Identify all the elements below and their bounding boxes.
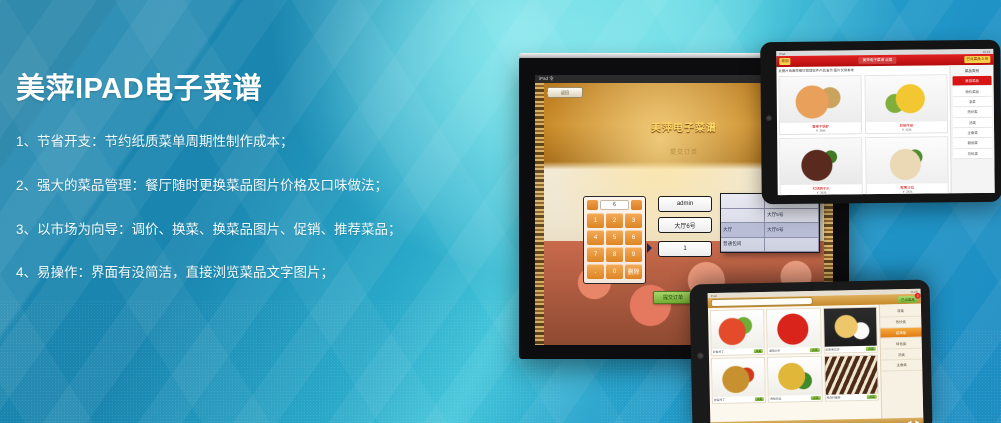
keypad-top-row: 6 (587, 200, 642, 210)
keypad-key[interactable]: 6 (625, 230, 642, 245)
dish-price: ￥ 42元 (866, 127, 947, 133)
dish-image (824, 308, 877, 347)
table-cell-seat[interactable]: 大厅5号 (765, 209, 819, 224)
add-dish-button[interactable]: 点菜 (811, 396, 821, 400)
cart-button[interactable]: 已点菜品 0 份 (964, 56, 990, 63)
dish-card[interactable]: 红烧狮子头 ￥ 36元 (779, 137, 863, 195)
dish-card[interactable]: 青椒肉丝 点菜 (767, 356, 822, 403)
dish-image (712, 358, 765, 397)
category-sidebar: 菜品类别 推荐菜品 特价菜品 凉菜 热炒类 汤类 主食类 甜品类 饮料类 (949, 65, 994, 193)
marketing-copy: 美萍IPAD电子菜谱 1、节省开支：节约纸质菜单周期性制作成本； 2、强大的菜品… (16, 72, 436, 308)
dish-card[interactable]: 彩椒牛柳 ￥ 42元 (865, 74, 949, 134)
sidebar-item-signature[interactable]: 招牌菜 (880, 327, 921, 339)
sidebar-item-stirfry[interactable]: 热炒类 (880, 316, 921, 328)
top-right-screen: iPad 10:24 返回 美萍电子菜谱 点菜 已点菜品 0 份 此图片由美萍餐… (776, 49, 994, 195)
content-body: 此图片由美萍餐饮管理软件产品演示 图片仅供参考 香辣干锅虾 ￥ 38元 彩椒牛柳… (776, 65, 994, 195)
submit-order-button[interactable]: 提交订单 (653, 291, 693, 304)
next-page-icon[interactable]: ▶ (915, 419, 919, 423)
dish-image (866, 75, 947, 122)
sidebar-item-dessert[interactable]: 甜品类 (953, 138, 992, 149)
cart-badge: 3 (915, 292, 921, 298)
keypad-key[interactable]: 9 (625, 247, 642, 262)
dish-panel: 彩椒鸡丁 点菜 番茄炒虾 点菜 (708, 305, 882, 423)
status-carrier: iPad (779, 51, 785, 55)
sidebar-item-staple[interactable]: 主食类 (881, 360, 922, 372)
table-field[interactable]: 大厅6号 (658, 217, 712, 233)
dish-grid: 彩椒鸡丁 点菜 番茄炒虾 点菜 (710, 307, 879, 404)
status-carrier: iPad 令 (539, 76, 554, 82)
dish-card[interactable]: 彩椒鸡丁 点菜 (710, 309, 765, 356)
cart-label: 已点菜品 (901, 297, 915, 301)
sidebar-item-special[interactable]: 特价菜品 (953, 86, 992, 97)
add-dish-button[interactable]: 点菜 (810, 348, 820, 352)
dish-image (711, 310, 764, 349)
numeric-keypad[interactable]: 6 1 2 3 4 5 6 7 8 9 . 0 (583, 196, 646, 284)
feature-item-1: 1、节省开支：节约纸质菜单周期性制作成本； (16, 133, 436, 152)
dish-meta: 彩椒鸡丁 点菜 (712, 348, 764, 355)
bottom-right-screen: iPad 11:06 已点菜品 3 彩椒鸡丁 (708, 289, 924, 423)
dish-card[interactable]: 黑森林蛋糕 点菜 (824, 355, 879, 402)
dish-card[interactable]: 奶香南瓜饼 点菜 (823, 307, 878, 354)
add-dish-button[interactable]: 点菜 (866, 347, 876, 351)
table-cell-seat[interactable] (765, 238, 819, 253)
dish-card[interactable]: 宫保鸡丁 点菜 (711, 357, 766, 404)
dish-meta: 番茄炒虾 点菜 (768, 347, 820, 354)
keypad-key[interactable]: 0 (606, 264, 623, 279)
header-title: 美萍电子菜谱 点菜 (859, 57, 897, 64)
dish-card[interactable]: 番茄炒虾 点菜 (766, 308, 821, 355)
sidebar-item-recommended[interactable]: 推荐菜品 (953, 76, 992, 87)
pagination-controls: ◀ ▶ (908, 419, 920, 423)
sidebar-item-specialty[interactable]: 特色菜 (881, 338, 922, 350)
dish-price: ￥ 28元 (867, 189, 948, 195)
keypad-key-delete[interactable]: 删除 (625, 264, 642, 279)
table-cell-area[interactable]: 普通包间 (721, 238, 765, 253)
keypad-key[interactable]: 5 (606, 230, 623, 245)
sidebar-item-soup[interactable]: 汤类 (881, 349, 922, 361)
keypad-key[interactable]: 8 (606, 247, 623, 262)
cart-button[interactable]: 已点菜品 3 (898, 295, 918, 302)
table-cell-seat-selected[interactable]: 大厅6号 (765, 223, 819, 238)
dish-price: ￥ 38元 (780, 128, 861, 134)
page-title: 美萍IPAD电子菜谱 (16, 72, 436, 107)
prev-page-icon[interactable]: ◀ (908, 419, 912, 423)
keypad-key[interactable]: 1 (587, 213, 604, 228)
keypad-key[interactable]: 2 (606, 213, 623, 228)
sidebar-item-drinks[interactable]: 饮料类 (953, 148, 992, 159)
sidebar-item-soup[interactable]: 汤类 (953, 117, 992, 128)
status-carrier: iPad (711, 293, 717, 297)
feature-item-2: 2、强大的菜品管理：餐厅随时更换菜品图片价格及口味做法； (16, 177, 436, 196)
keypad-grid: 1 2 3 4 5 6 7 8 9 . 0 删除 (587, 213, 642, 279)
add-dish-button[interactable]: 点菜 (755, 397, 765, 401)
dish-card[interactable]: 香辣干锅虾 ￥ 38元 (779, 75, 863, 135)
dish-name: 番茄炒虾 (769, 349, 780, 353)
notice-text: 此图片由美萍餐饮管理软件产品演示 图片仅供参考 (778, 67, 947, 74)
keypad-backspace-button[interactable] (631, 200, 642, 210)
dish-panel: 此图片由美萍餐饮管理软件产品演示 图片仅供参考 香辣干锅虾 ￥ 38元 彩椒牛柳… (776, 65, 950, 195)
keypad-key[interactable]: 7 (587, 247, 604, 262)
device-top-right-ipad: iPad 10:24 返回 美萍电子菜谱 点菜 已点菜品 0 份 此图片由美萍餐… (760, 40, 1001, 205)
camera-icon (766, 115, 772, 121)
dish-image (780, 138, 861, 185)
dish-name: 宫保鸡丁 (714, 398, 725, 402)
sidebar-item-stirfry[interactable]: 热炒类 (953, 107, 992, 118)
feature-item-3: 3、以市场为向导：调价、换菜、换菜品图片、促销、推荐菜品； (16, 221, 436, 240)
back-button[interactable]: 返回 (779, 58, 790, 65)
dish-meta: 青椒肉丝 点菜 (769, 395, 821, 402)
keypad-key[interactable]: 4 (587, 230, 604, 245)
banner-stage: 美萍IPAD电子菜谱 1、节省开支：节约纸质菜单周期性制作成本； 2、强大的菜品… (0, 0, 1001, 423)
dish-meta: 宫保鸡丁 点菜 (713, 396, 765, 403)
username-field[interactable]: admin (658, 196, 712, 212)
table-cell-area[interactable] (721, 209, 765, 224)
sidebar-header: 菜品类别 (952, 67, 991, 76)
background-dot-texture-left (0, 300, 560, 423)
dish-grid: 香辣干锅虾 ￥ 38元 彩椒牛柳 ￥ 42元 红烧狮子头 ￥ 36元 (779, 74, 949, 195)
feature-item-4: 4、易操作：界面有没简洁，直接浏览菜品文字图片； (16, 264, 436, 283)
feature-list: 1、节省开支：节约纸质菜单周期性制作成本； 2、强大的菜品管理：餐厅随时更换菜品… (16, 133, 436, 284)
table-cell-area-selected[interactable]: 大厅 (721, 223, 765, 238)
dish-name: 青椒肉丝 (770, 397, 781, 401)
pointer-arrow-icon (647, 243, 657, 253)
guest-count-field[interactable]: 1 (658, 241, 712, 257)
back-button[interactable]: 返回 (547, 87, 583, 98)
category-sidebar: 凉菜 热炒类 招牌菜 特色菜 汤类 主食类 (879, 304, 924, 423)
device-bottom-right-ipad: iPad 11:06 已点菜品 3 彩椒鸡丁 (689, 280, 932, 423)
camera-icon (697, 352, 704, 359)
keypad-key[interactable]: . (587, 264, 604, 279)
dish-image (768, 357, 821, 396)
status-time: 10:24 (983, 49, 991, 53)
sidebar-item-cold[interactable]: 凉菜 (953, 97, 992, 108)
add-dish-button[interactable]: 点菜 (867, 395, 877, 399)
dish-image (767, 309, 820, 348)
add-dish-button[interactable]: 点菜 (754, 349, 764, 353)
keypad-display[interactable]: 6 (600, 200, 629, 210)
dish-meta: 黑森林蛋糕 点菜 (825, 394, 877, 401)
sidebar-item-staple[interactable]: 主食类 (953, 128, 992, 139)
dish-image (866, 137, 947, 184)
dish-meta: 奶香南瓜饼 点菜 (824, 346, 876, 353)
dish-image (780, 76, 861, 123)
keypad-key[interactable]: 3 (625, 213, 642, 228)
keypad-clear-button[interactable] (587, 200, 598, 210)
table-cell-area[interactable] (721, 194, 765, 209)
dish-name: 黑森林蛋糕 (826, 395, 840, 399)
dish-image (825, 356, 878, 395)
content-body: 彩椒鸡丁 点菜 番茄炒虾 点菜 (708, 304, 924, 423)
dish-name: 彩椒鸡丁 (713, 350, 724, 354)
dish-card[interactable]: 鲜果沙拉 ￥ 28元 (865, 136, 949, 195)
dish-price: ￥ 36元 (781, 190, 862, 195)
dish-name: 奶香南瓜饼 (825, 347, 839, 351)
